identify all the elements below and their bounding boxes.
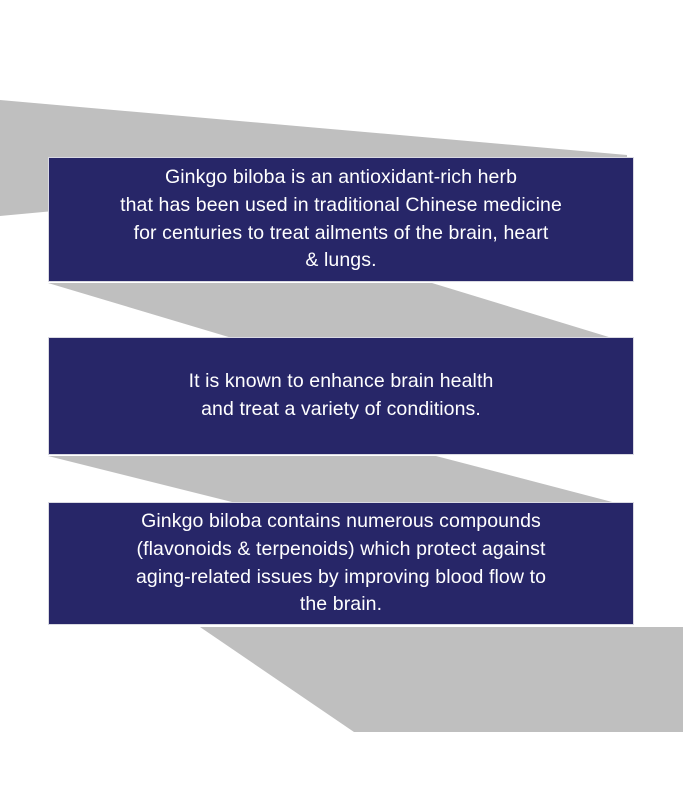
statement-card-1: Ginkgo biloba is an antioxidant-rich her… <box>48 157 634 282</box>
ribbon-segment-diagonal-2 <box>48 456 616 503</box>
infographic-canvas: Ginkgo biloba is an antioxidant-rich her… <box>0 0 683 800</box>
statement-card-2: It is known to enhance brain health and … <box>48 337 634 455</box>
ribbon-segment-diagonal-1 <box>48 283 612 338</box>
statement-card-3-text: Ginkgo biloba contains numerous compound… <box>136 508 546 619</box>
ribbon-segment-bottom <box>200 627 683 732</box>
statement-card-3: Ginkgo biloba contains numerous compound… <box>48 502 634 625</box>
statement-card-1-text: Ginkgo biloba is an antioxidant-rich her… <box>120 164 562 275</box>
statement-card-2-text: It is known to enhance brain health and … <box>189 368 494 423</box>
